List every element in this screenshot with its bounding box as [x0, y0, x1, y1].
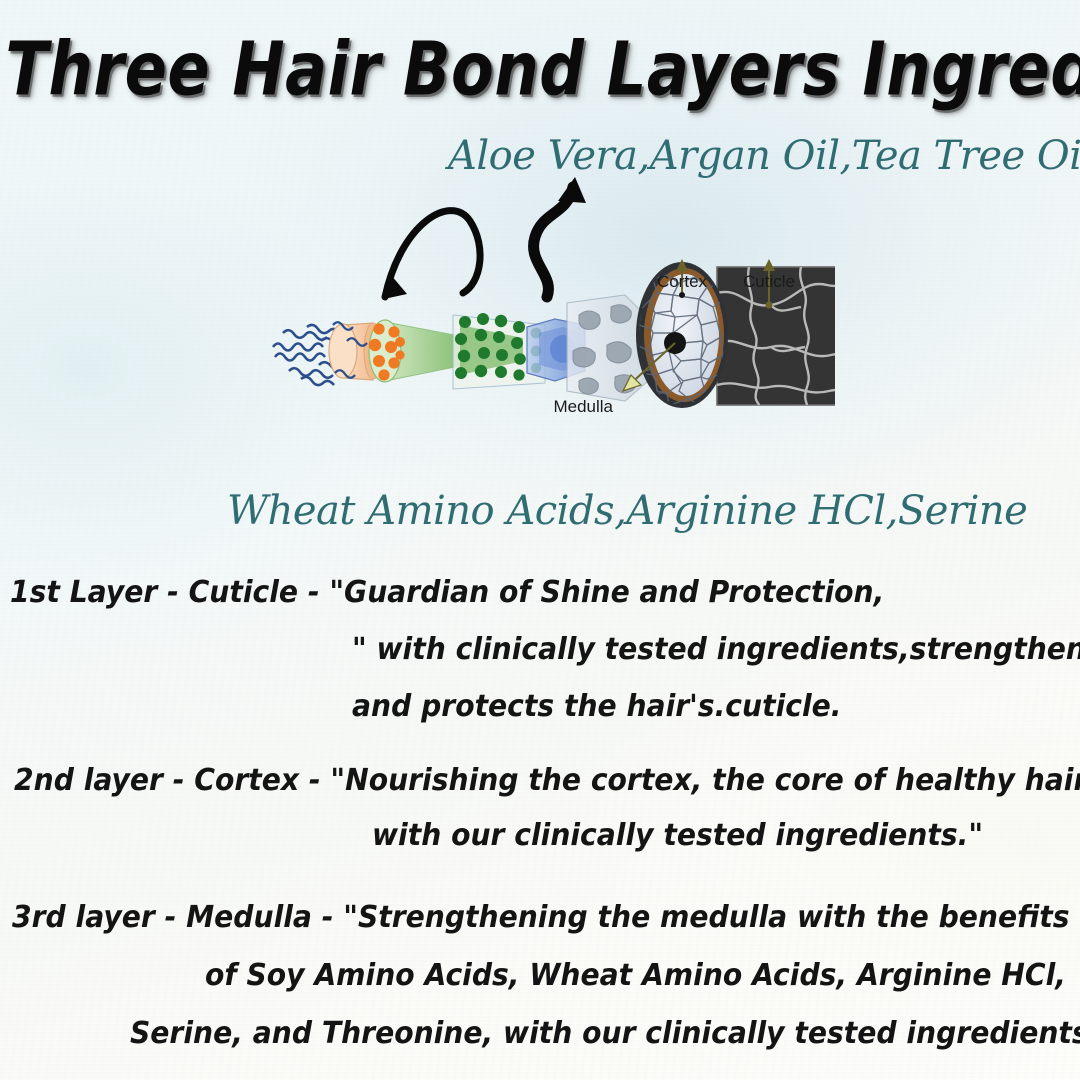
layer-3-line-1: 3rd layer - Medulla - "Strengthening the…	[12, 903, 1070, 933]
medulla-label: Medulla	[553, 397, 613, 416]
layer-2-line-2: with our clinically tested ingredients."	[372, 821, 983, 851]
poster-root: Three Hair Bond Layers Ingredients Aloe …	[0, 0, 1080, 1080]
ingredient-line-2: Wheat Amino Acids,Arginine HCl,Serine Wh…	[227, 488, 1027, 534]
layer-3-line-2: of Soy Amino Acids, Wheat Amino Acids, A…	[205, 961, 1066, 991]
page-title: Three Hair Bond Layers Ingredients	[5, 26, 1074, 112]
ingredient-line-1: Aloe Vera,Argan Oil,Tea Tree Oil, Aloe V…	[448, 133, 1080, 179]
hair-structure-diagram: Cortex Cuticle Medulla	[255, 175, 835, 465]
ingredient-line-2-text: Wheat Amino Acids,Arginine HCl,Serine	[227, 488, 1027, 534]
layer-1-line-1: 1st Layer - Cuticle - "Guardian of Shine…	[10, 578, 884, 608]
cuticle-label: Cuticle	[743, 272, 795, 291]
cortex-label: Cortex	[657, 272, 708, 291]
layer-3-line-3: Serine, and Threonine, with our clinical…	[130, 1019, 1080, 1049]
layer-1-line-2: " with clinically tested ingredients,str…	[352, 635, 1080, 665]
arrow-to-cuticle-icon	[534, 177, 586, 297]
ingredient-line-1-text: Aloe Vera,Argan Oil,Tea Tree Oil,	[448, 133, 1080, 179]
layer-2-line-1: 2nd layer - Cortex - "Nourishing the cor…	[14, 766, 1080, 796]
arrow-to-cortex-icon	[384, 211, 480, 299]
layer-1-line-3: and protects the hair's.cuticle.	[352, 692, 841, 722]
macrofibril-cone-icon	[369, 320, 465, 382]
